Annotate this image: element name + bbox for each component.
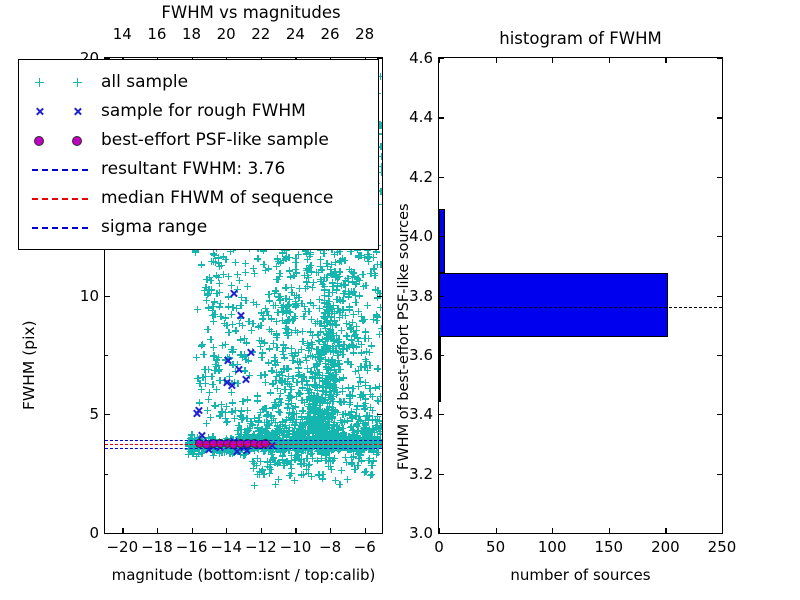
- left-bottom-tick-label: −20: [105, 538, 139, 556]
- legend-label: sigma range: [101, 217, 207, 237]
- left-bottom-tick-label: −12: [244, 538, 278, 556]
- tick-mark: [717, 533, 722, 534]
- legend-key: [29, 72, 101, 92]
- legend-entry: all sample: [29, 67, 368, 96]
- tick-mark: [552, 58, 553, 63]
- tick-mark: [157, 528, 158, 533]
- tick-mark: [105, 533, 110, 534]
- legend-entry: sigma range: [29, 212, 368, 241]
- legend-label: best-effort PSF-like sample: [101, 130, 329, 150]
- circle-icon: [34, 136, 44, 146]
- left-y-axis-title: FWHM (pix): [20, 320, 38, 410]
- left-top-tick-label: 18: [178, 25, 206, 43]
- left-top-tick-label: 26: [316, 25, 344, 43]
- legend-label: resultant FWHM: 3.76: [101, 159, 285, 179]
- tick-mark: [717, 474, 722, 475]
- legend-entry: resultant FWHM: 3.76: [29, 154, 368, 183]
- legend-label: sample for rough FWHM: [101, 101, 306, 121]
- left-top-tick-label: 28: [351, 25, 379, 43]
- cross-icon: [73, 107, 82, 116]
- left-top-tick-label: 16: [143, 25, 171, 43]
- tick-mark: [717, 296, 722, 297]
- tick-mark: [365, 528, 366, 533]
- left-y-tick-label: 0: [61, 524, 99, 542]
- tick-mark: [665, 528, 666, 533]
- minor-tick-mark: [105, 355, 108, 356]
- histogram-reference-line: [439, 58, 722, 533]
- tick-mark: [552, 528, 553, 533]
- left-x-axis-title: magnitude (bottom:isnt / top:calib): [104, 566, 383, 584]
- right-panel-title: histogram of FWHM: [438, 29, 723, 48]
- tick-mark: [439, 58, 444, 59]
- tick-mark: [377, 296, 382, 297]
- tick-mark: [722, 528, 723, 533]
- right-x-tick-label: 100: [532, 538, 572, 556]
- legend-entry: best-effort PSF-like sample: [29, 125, 368, 154]
- right-y-tick-label: 4.6: [391, 49, 433, 67]
- tick-mark: [439, 474, 444, 475]
- tick-mark: [717, 117, 722, 118]
- right-x-tick-label: 0: [419, 538, 459, 556]
- right-x-tick-label: 200: [645, 538, 685, 556]
- left-top-tick-label: 14: [108, 25, 136, 43]
- left-bottom-tick-label: −16: [175, 538, 209, 556]
- tick-mark: [105, 296, 110, 297]
- legend-label: median FHWM of sequence: [101, 188, 333, 208]
- left-bottom-tick-label: −18: [140, 538, 174, 556]
- tick-mark: [295, 528, 296, 533]
- tick-mark: [717, 355, 722, 356]
- left-y-tick-label: 5: [61, 405, 99, 423]
- line-swatch-icon: [32, 198, 88, 200]
- reference-line: [439, 307, 722, 308]
- cross-icon: [35, 107, 44, 116]
- plus-icon: [35, 78, 44, 87]
- reference-line: [105, 448, 382, 449]
- right-x-tick-label: 250: [702, 538, 742, 556]
- legend-key: [29, 101, 101, 121]
- left-top-tick-label: 24: [281, 25, 309, 43]
- tick-mark: [439, 177, 444, 178]
- reference-line: [105, 444, 382, 445]
- left-bottom-tick-label: −6: [348, 538, 382, 556]
- tick-mark: [105, 414, 110, 415]
- tick-mark: [722, 58, 723, 63]
- tick-mark: [609, 58, 610, 63]
- legend-key: [29, 159, 101, 179]
- legend-key: [29, 130, 101, 150]
- tick-mark: [439, 414, 444, 415]
- right-plot-area: [439, 58, 722, 533]
- tick-mark: [717, 414, 722, 415]
- legend-box: all samplesample for rough FWHMbest-effo…: [18, 59, 379, 250]
- tick-mark: [665, 58, 666, 63]
- figure-canvas: FWHM vs magnitudes 1416182022242628 −20−…: [0, 0, 800, 600]
- tick-mark: [439, 117, 444, 118]
- tick-mark: [330, 528, 331, 533]
- left-panel-title: FWHM vs magnitudes: [112, 3, 390, 22]
- line-swatch-icon: [32, 169, 88, 171]
- tick-mark: [439, 236, 444, 237]
- right-x-tick-label: 50: [476, 538, 516, 556]
- minor-tick-mark: [105, 474, 108, 475]
- left-y-tick-label: 10: [61, 287, 99, 305]
- left-bottom-tick-label: −8: [313, 538, 347, 556]
- legend-key: [29, 217, 101, 237]
- right-y-axis-title: FWHM of best-effort PSF-like sources: [396, 203, 412, 470]
- right-y-tick-label: 4.4: [391, 108, 433, 126]
- tick-mark: [261, 528, 262, 533]
- left-bottom-tick-label: −14: [209, 538, 243, 556]
- right-x-axis-title: number of sources: [438, 566, 723, 584]
- left-bottom-tick-label: −10: [278, 538, 312, 556]
- reference-line: [105, 440, 382, 441]
- circle-icon: [72, 136, 82, 146]
- legend-entry: median FHWM of sequence: [29, 183, 368, 212]
- tick-mark: [439, 533, 444, 534]
- tick-mark: [377, 414, 382, 415]
- tick-mark: [496, 528, 497, 533]
- tick-mark: [439, 355, 444, 356]
- tick-mark: [439, 296, 444, 297]
- tick-mark: [377, 533, 382, 534]
- legend-key: [29, 188, 101, 208]
- line-swatch-icon: [32, 227, 88, 229]
- tick-mark: [192, 528, 193, 533]
- tick-mark: [609, 528, 610, 533]
- tick-mark: [717, 177, 722, 178]
- tick-mark: [226, 528, 227, 533]
- right-x-tick-label: 150: [589, 538, 629, 556]
- tick-mark: [496, 58, 497, 63]
- legend-label: all sample: [101, 72, 188, 92]
- tick-mark: [717, 58, 722, 59]
- right-y-tick-label: 4.2: [391, 168, 433, 186]
- left-top-tick-label: 20: [212, 25, 240, 43]
- legend-entry: sample for rough FWHM: [29, 96, 368, 125]
- tick-mark: [717, 236, 722, 237]
- plus-icon: [73, 78, 82, 87]
- left-top-tick-label: 22: [247, 25, 275, 43]
- tick-mark: [122, 528, 123, 533]
